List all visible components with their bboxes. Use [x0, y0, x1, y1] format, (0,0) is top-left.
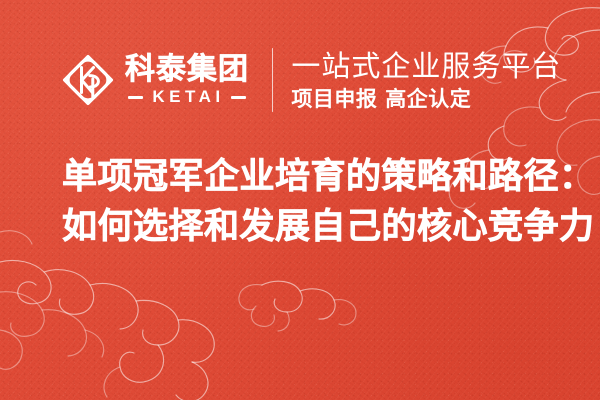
- ketai-diamond-kp-monogram-icon: [62, 54, 114, 106]
- tagline-block: 一站式企业服务平台 项目申报 高企认定: [291, 49, 561, 112]
- banner-header: 科泰集团 KETAI 一站式企业服务平台 项目申报 高企认定: [0, 42, 600, 118]
- headline-line-2: 如何选择和发展自己的核心竞争力: [62, 202, 552, 252]
- brand-wordmark: 科泰集团 KETAI: [125, 54, 249, 106]
- brand-name-en: KETAI: [149, 88, 224, 106]
- promotional-banner: 科泰集团 KETAI 一站式企业服务平台 项目申报 高企认定 单项冠军企业培育的…: [0, 0, 600, 400]
- headline-block: 单项冠军企业培育的策略和路径： 如何选择和发展自己的核心竞争力: [62, 152, 552, 252]
- brand-name-en-row: KETAI: [125, 88, 249, 106]
- header-divider: [272, 48, 273, 112]
- brand-rule-right-icon: [231, 96, 246, 99]
- brand-name-cn: 科泰集团: [125, 54, 249, 86]
- tagline-primary: 一站式企业服务平台: [291, 49, 561, 83]
- tagline-secondary: 项目申报 高企认定: [291, 86, 561, 112]
- brand-lockup: 科泰集团 KETAI: [62, 54, 249, 106]
- brand-rule-left-icon: [128, 96, 143, 99]
- headline-line-1: 单项冠军企业培育的策略和路径：: [62, 152, 552, 202]
